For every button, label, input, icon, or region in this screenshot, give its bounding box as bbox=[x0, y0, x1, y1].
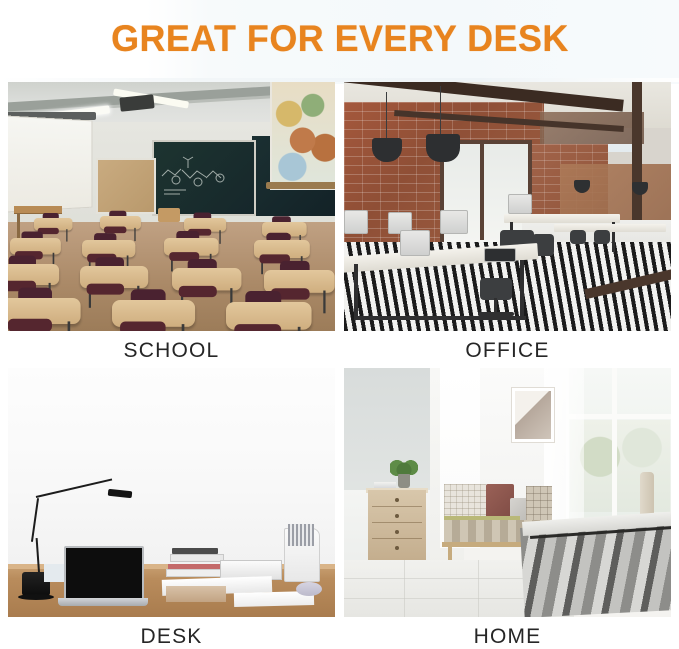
classroom-projector-screen bbox=[8, 115, 92, 212]
office-desk-far bbox=[504, 214, 620, 223]
office-task-chair bbox=[480, 278, 512, 300]
classroom-map-rod bbox=[266, 182, 335, 189]
home-dresser-knob bbox=[395, 546, 399, 550]
classroom-teacher-table bbox=[14, 206, 62, 213]
office-chair-far bbox=[594, 230, 610, 244]
panel-grid: SCHOOL bbox=[8, 82, 671, 643]
home-dresser-knob bbox=[395, 514, 399, 518]
office-window-mullion bbox=[480, 140, 484, 240]
office-monitor bbox=[400, 230, 430, 256]
home-dresser-drawer-line bbox=[372, 506, 422, 507]
classroom-corkboard bbox=[96, 158, 156, 214]
office-monitor bbox=[440, 210, 468, 234]
office-chair-base bbox=[478, 312, 514, 316]
office-desk-rail bbox=[354, 316, 526, 320]
photo-desk bbox=[8, 368, 335, 617]
office-laptop bbox=[484, 248, 516, 262]
desk-book-pile bbox=[166, 586, 226, 602]
panel-desk: DESK bbox=[8, 368, 335, 649]
caption-school: SCHOOL bbox=[8, 331, 335, 363]
classroom-teacher-table-leg bbox=[17, 213, 20, 239]
home-framed-artwork bbox=[512, 388, 554, 442]
home-dresser-drawer-line bbox=[372, 538, 422, 539]
classroom-world-map bbox=[270, 82, 335, 190]
office-pendant-lamp bbox=[426, 134, 460, 162]
caption-office: OFFICE bbox=[344, 331, 671, 363]
home-sofa-cushion-plaid bbox=[526, 486, 552, 524]
product-feature-graphic: GREAT FOR EVERY DESK bbox=[0, 0, 679, 649]
office-pendant-cord bbox=[440, 86, 441, 134]
caption-home: HOME bbox=[344, 617, 671, 649]
office-desk-leg bbox=[520, 260, 524, 316]
panel-school: SCHOOL bbox=[8, 82, 335, 363]
office-desk-leg bbox=[354, 264, 358, 320]
office-monitor bbox=[344, 210, 368, 234]
desk-lamp-foot bbox=[18, 594, 54, 600]
chalkboard-writing bbox=[158, 156, 246, 198]
home-plant-pot bbox=[398, 474, 410, 488]
panel-office: OFFICE bbox=[344, 82, 671, 363]
home-dresser-knob bbox=[395, 530, 399, 534]
home-floor-tile-line bbox=[478, 560, 479, 617]
photo-school bbox=[8, 82, 335, 331]
home-dresser-drawer-line bbox=[372, 522, 422, 523]
home-sofa-back-cushion bbox=[444, 484, 486, 518]
classroom-podium bbox=[158, 208, 180, 222]
header: GREAT FOR EVERY DESK bbox=[0, 0, 679, 82]
office-monitor bbox=[508, 194, 532, 214]
panel-home: HOME bbox=[344, 368, 671, 649]
photo-office bbox=[344, 82, 671, 331]
home-window-view bbox=[570, 420, 670, 512]
page-title: GREAT FOR EVERY DESK bbox=[111, 18, 569, 60]
desk-laptop-screen bbox=[64, 546, 144, 602]
desk-rolled-paper bbox=[296, 582, 322, 596]
home-floor-tile-line bbox=[404, 560, 405, 617]
desk-laptop-base bbox=[58, 598, 148, 606]
home-dresser-knob bbox=[395, 498, 399, 502]
home-window-mullion-vertical bbox=[612, 368, 617, 516]
caption-desk: DESK bbox=[8, 617, 335, 649]
photo-home bbox=[344, 368, 671, 617]
office-chair-far bbox=[570, 230, 586, 244]
office-pendant-cord bbox=[386, 92, 387, 138]
desk-book bbox=[170, 554, 224, 562]
desk-files bbox=[288, 524, 314, 546]
